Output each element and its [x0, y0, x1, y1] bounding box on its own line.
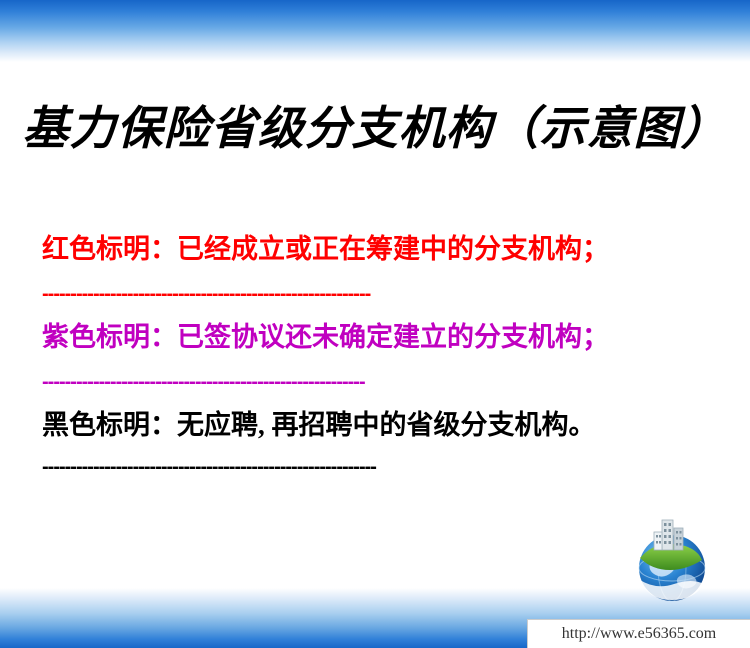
- spacer: [42, 305, 708, 320]
- spacer: [42, 393, 708, 408]
- watermark-url-text: http://www.e56365.com: [562, 625, 717, 643]
- divider-purple: ----------------------------------------…: [42, 371, 608, 393]
- legend-line-black: 黑色标明：无应聘, 再招聘中的省级分支机构。: [42, 408, 708, 442]
- globe-building-logo: [610, 508, 728, 603]
- legend-line-red: 红色标明：已经成立或正在筹建中的分支机构；: [42, 232, 708, 266]
- spacer: [42, 354, 708, 371]
- legend-line-purple: 紫色标明：已签协议还未确定建立的分支机构；: [42, 320, 708, 354]
- divider-red: ----------------------------------------…: [42, 283, 628, 305]
- page-title: 基力保险省级分支机构（示意图）: [0, 92, 750, 158]
- watermark-url-bar: http://www.e56365.com: [527, 619, 750, 648]
- spacer: [42, 442, 708, 456]
- divider-black: ----------------------------------------…: [42, 456, 638, 478]
- top-gradient-band: [0, 0, 750, 62]
- spacer: [42, 266, 708, 283]
- slide-canvas: 基力保险省级分支机构（示意图） 红色标明：已经成立或正在筹建中的分支机构； --…: [0, 0, 750, 648]
- legend-block: 红色标明：已经成立或正在筹建中的分支机构； ------------------…: [42, 232, 708, 478]
